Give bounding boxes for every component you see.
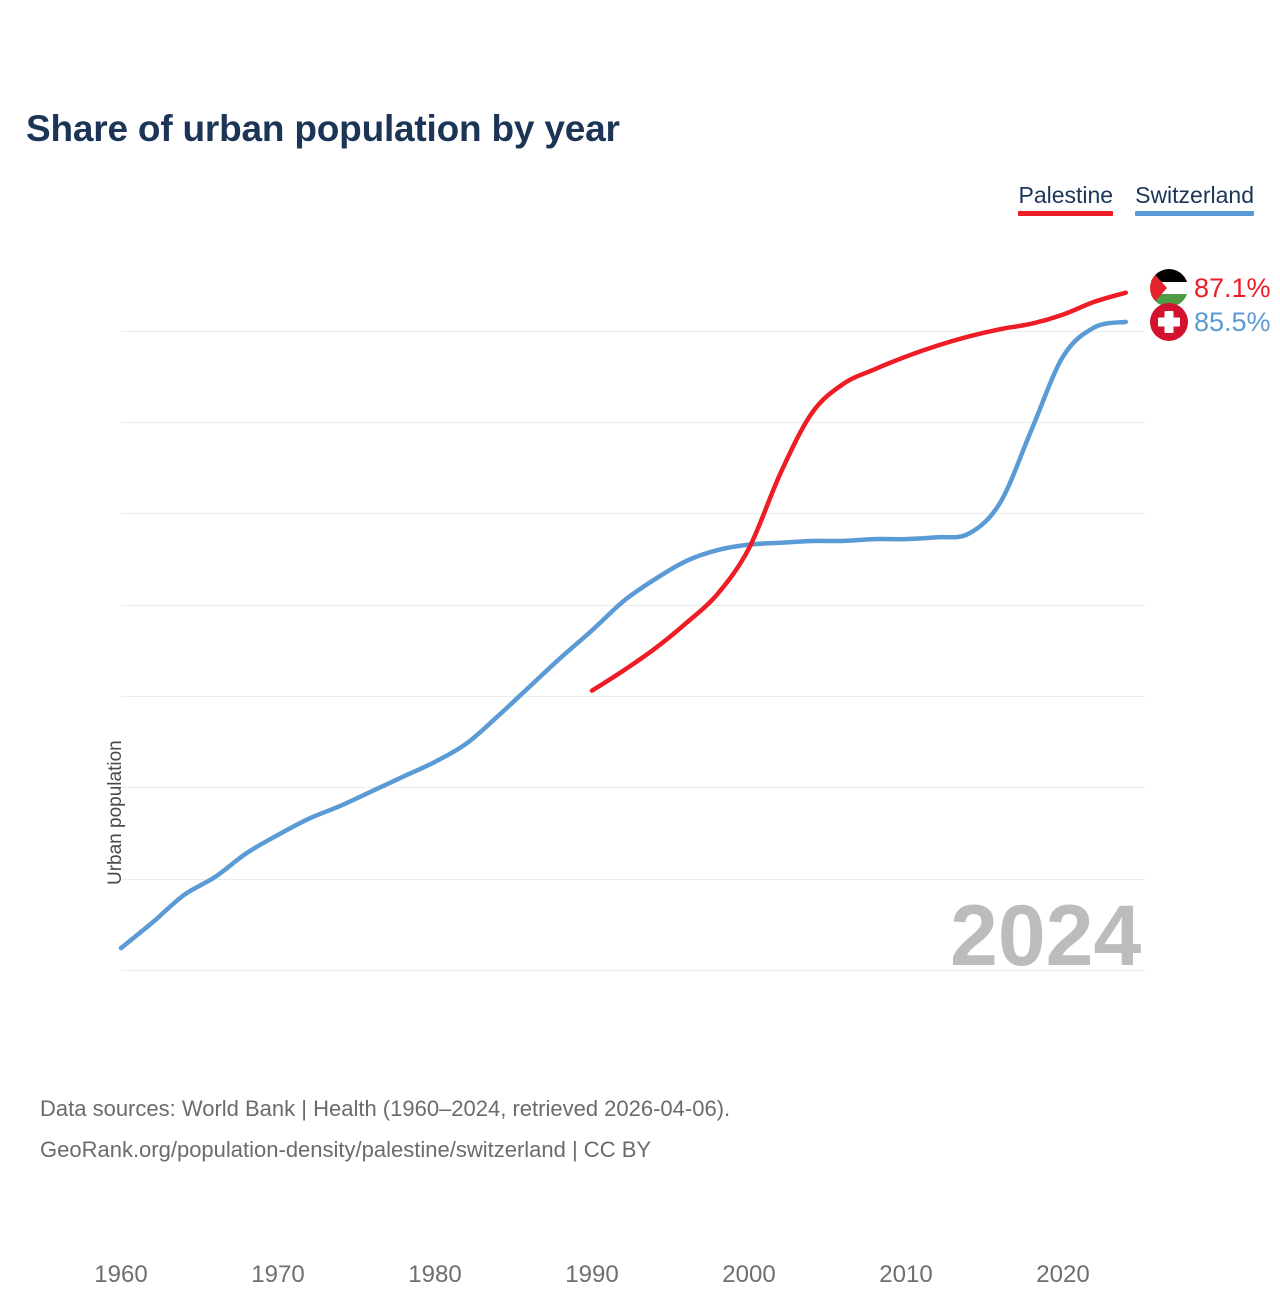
chart-footer: Data sources: World Bank | Health (1960–… bbox=[40, 1088, 730, 1170]
xtick-1980: 1980 bbox=[408, 1261, 461, 1289]
plot-area: 85% 80% 75% 70% 65% 60% 55% 50% Urban po… bbox=[121, 245, 1145, 970]
xtick-2020: 2020 bbox=[1036, 1261, 1089, 1289]
footer-line-1: Data sources: World Bank | Health (1960–… bbox=[40, 1088, 730, 1129]
legend-label-switzerland: Switzerland bbox=[1135, 182, 1254, 208]
switzerland-flag-icon bbox=[1150, 303, 1188, 341]
xtick-2000: 2000 bbox=[722, 1261, 775, 1289]
chart-legend: Palestine Switzerland bbox=[1018, 182, 1254, 216]
xtick-1970: 1970 bbox=[251, 1261, 304, 1289]
urban-population-chart: Share of urban population by year Palest… bbox=[0, 0, 1280, 1280]
palestine-line bbox=[592, 293, 1126, 691]
legend-label-palestine: Palestine bbox=[1018, 182, 1113, 208]
palestine-endpoint-value: 87.1% bbox=[1194, 273, 1271, 303]
switzerland-endpoint-value: 85.5% bbox=[1194, 307, 1271, 337]
xtick-1960: 1960 bbox=[94, 1261, 147, 1289]
xtick-2010: 2010 bbox=[879, 1261, 932, 1289]
footer-line-2: GeoRank.org/population-density/palestine… bbox=[40, 1129, 730, 1170]
switzerland-endpoint: 85.5% bbox=[1150, 303, 1271, 341]
palestine-flag-icon bbox=[1150, 269, 1188, 307]
xtick-1990: 1990 bbox=[565, 1261, 618, 1289]
legend-item-switzerland[interactable]: Switzerland bbox=[1135, 182, 1254, 216]
series-lines bbox=[121, 245, 1145, 970]
legend-rule-switzerland bbox=[1135, 211, 1254, 216]
switzerland-line bbox=[121, 322, 1126, 948]
chart-title: Share of urban population by year bbox=[26, 108, 620, 150]
legend-item-palestine[interactable]: Palestine bbox=[1018, 182, 1113, 216]
legend-rule-palestine bbox=[1018, 211, 1113, 216]
palestine-endpoint: 87.1% bbox=[1150, 269, 1271, 307]
